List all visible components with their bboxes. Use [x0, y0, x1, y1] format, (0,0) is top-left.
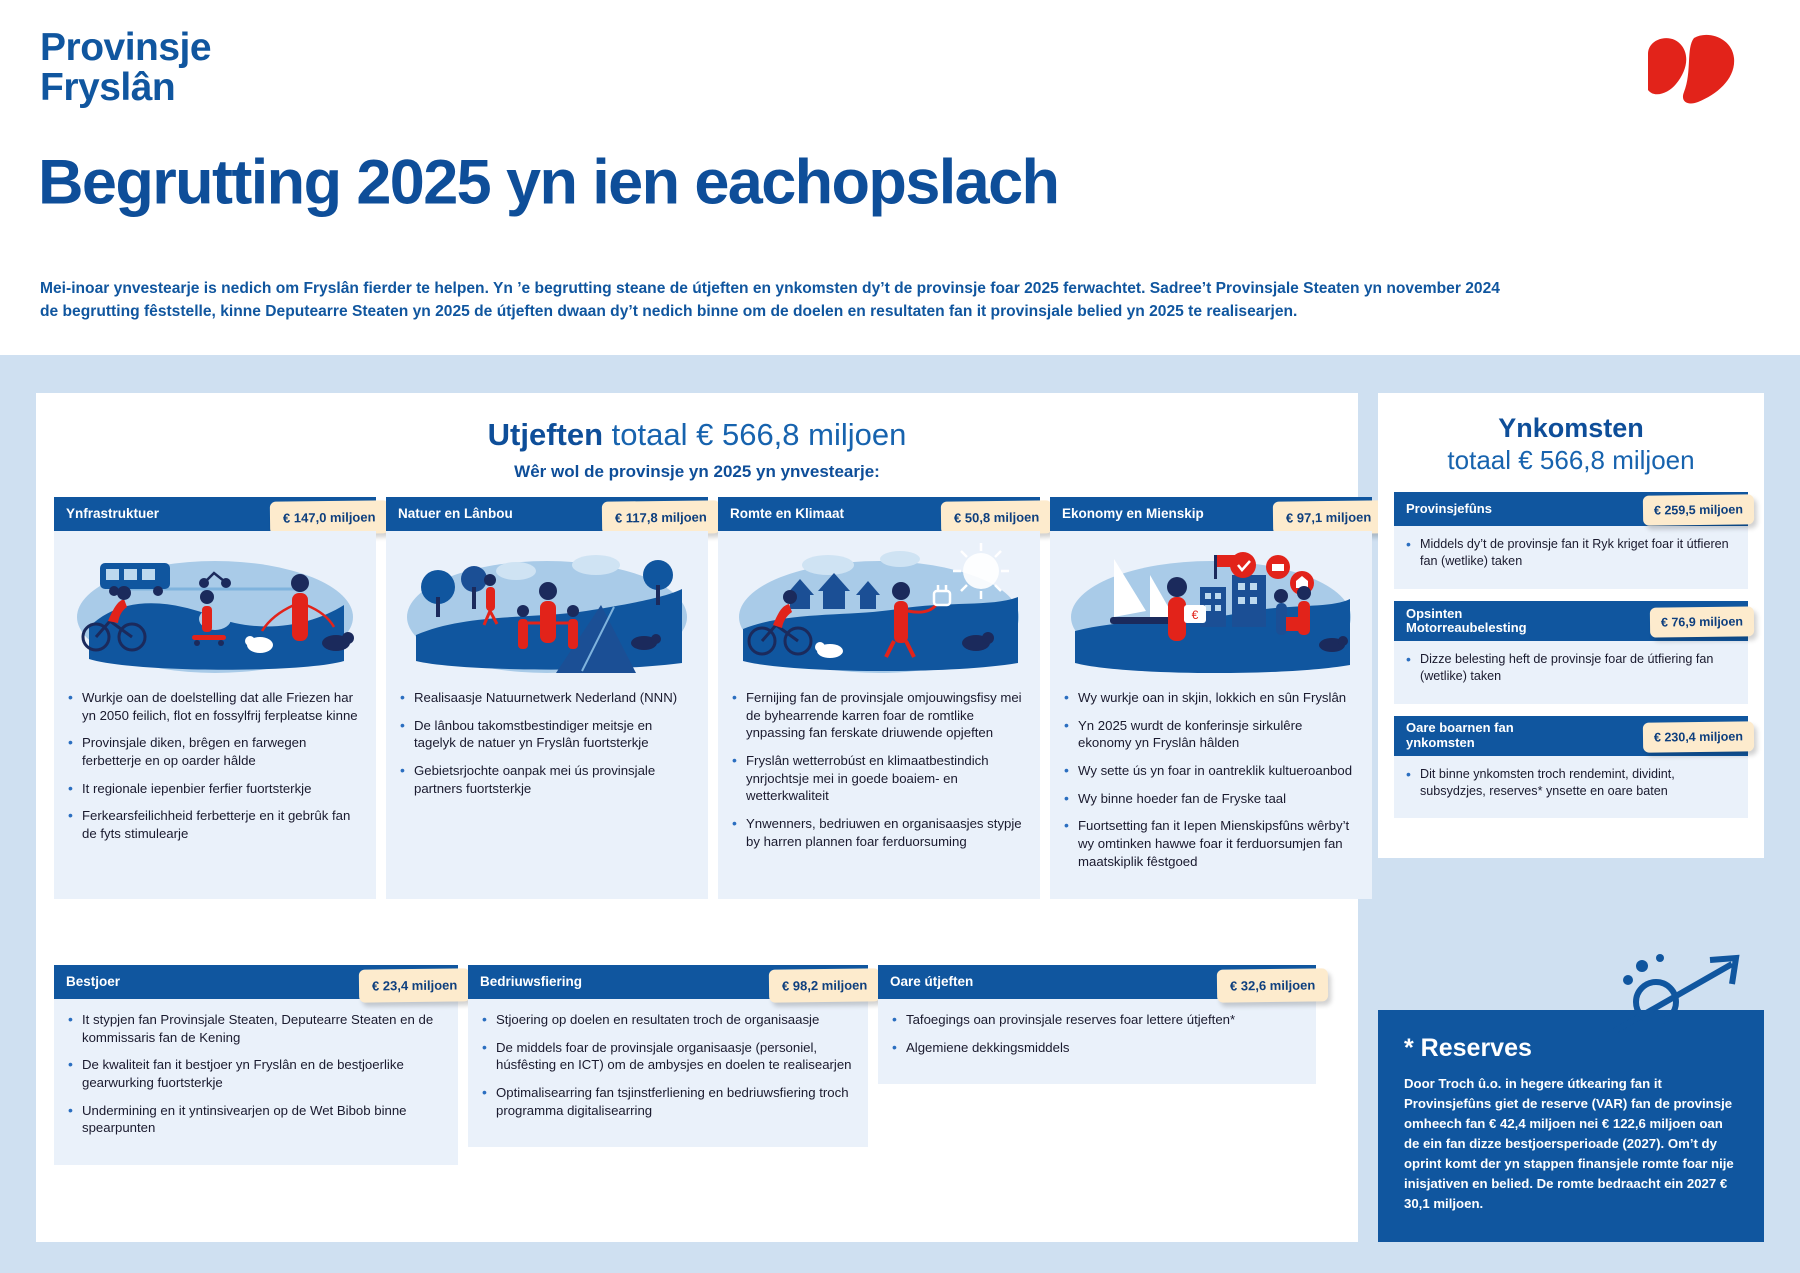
card-title: Oare útjeften [890, 975, 973, 990]
logo-line-1: Provinsje [40, 28, 211, 68]
card-bullets: Dizze belesting heft de provinsje foar d… [1394, 641, 1748, 704]
card-bullets: Tafoegings oan provinsjale reserves foar… [878, 999, 1316, 1084]
card-bullets: Realisaasje Natuurnetwerk Nederland (NNN… [386, 681, 708, 825]
list-item: Fryslân wetterrobúst en klimaatbestindic… [730, 752, 1026, 805]
list-item: Realisaasje Natuurnetwerk Nederland (NNN… [398, 689, 694, 707]
card-header: Ekonomy en Mienskip € 97,1 miljoen [1050, 497, 1372, 531]
income-panel: Ynkomsten totaal € 566,8 miljoen Provins… [1378, 393, 1764, 858]
amount-badge: € 23,4 miljoen [359, 968, 471, 1002]
expenses-subtitle: Wêr wol de provinsje yn 2025 yn ynvestea… [36, 462, 1358, 482]
expenses-title-bold: Utjeften [488, 417, 603, 452]
logo-line-2: Fryslân [40, 68, 211, 108]
expense-card-infrastructure[interactable]: Ynfrastruktuer € 147,0 miljoen [54, 497, 376, 899]
lead-paragraph: Mei-inoar ynvestearje is nedich om Frysl… [40, 278, 1520, 324]
card-title: Opsinten Motorreaubelesting [1406, 607, 1571, 636]
expense-card-operations[interactable]: Bedriuwsfiering € 98,2 miljoen Stjoering… [468, 965, 868, 1147]
amount-badge: € 98,2 miljoen [769, 968, 881, 1002]
reserves-body: Door Troch û.o. in hegere útkearing fan … [1404, 1074, 1740, 1214]
income-title: Ynkomsten [1378, 413, 1764, 443]
card-title: Romte en Klimaat [730, 507, 844, 522]
card-title: Provinsjefûns [1406, 502, 1492, 516]
list-item: Ynwenners, bedriuwen en organisaasjes st… [730, 815, 1026, 850]
list-item: It regionale iepenbier ferfier fuortster… [66, 780, 362, 798]
space-climate-illustration [718, 531, 1040, 681]
card-header: Romte en Klimaat € 50,8 miljoen [718, 497, 1040, 531]
card-header: Natuer en Lânbou € 117,8 miljoen [386, 497, 708, 531]
card-header: Ynfrastruktuer € 147,0 miljoen [54, 497, 376, 531]
list-item: De middels foar de provinsjale organisaa… [480, 1039, 852, 1074]
list-item: De kwaliteit fan it bestjoer yn Fryslân … [66, 1056, 442, 1091]
income-card-vehicle-tax[interactable]: Opsinten Motorreaubelesting € 76,9 miljo… [1394, 601, 1748, 704]
amount-badge: € 259,5 miljoen [1643, 495, 1754, 526]
expenses-title-total: totaal € 566,8 miljoen [612, 417, 907, 452]
card-title: Oare boarnen fan ynkomsten [1406, 721, 1571, 750]
nature-agriculture-illustration [386, 531, 708, 681]
expense-card-space-climate[interactable]: Romte en Klimaat € 50,8 miljoen [718, 497, 1040, 899]
card-title: Bedriuwsfiering [480, 975, 582, 990]
list-item: Undermining en it yntinsivearjen op de W… [66, 1102, 442, 1137]
card-bullets: It stypjen fan Provinsjale Steaten, Depu… [54, 999, 458, 1165]
amount-badge: € 76,9 miljoen [1650, 606, 1754, 637]
reserves-box: * Reserves Door Troch û.o. in hegere útk… [1378, 1010, 1764, 1242]
list-item: Provinsjale diken, brêgen en farwegen fe… [66, 734, 362, 769]
expenses-card-row-top: Ynfrastruktuer € 147,0 miljoen [54, 497, 1372, 899]
card-title: Ekonomy en Mienskip [1062, 507, 1204, 522]
list-item: Wy sette ús yn foar in oantreklik kultue… [1062, 762, 1358, 780]
list-item: Optimalisearring fan tsjinstferliening e… [480, 1084, 852, 1119]
expenses-panel: Utjeften totaal € 566,8 miljoen Wêr wol … [36, 393, 1358, 1242]
logo-wordmark: Provinsje Fryslân [40, 28, 211, 108]
list-item: Tafoegings oan provinsjale reserves foar… [890, 1011, 1300, 1029]
list-item: Fuortsetting fan it Iepen Mienskipsfûns … [1062, 817, 1358, 870]
card-bullets: Stjoering op doelen en resultaten troch … [468, 999, 868, 1147]
fryslan-heart-logo-icon [1642, 32, 1738, 110]
amount-badge: € 147,0 miljoen [269, 500, 388, 534]
expenses-title: Utjeften totaal € 566,8 miljoen [36, 417, 1358, 453]
list-item: Stjoering op doelen en resultaten troch … [480, 1011, 852, 1029]
card-bullets: Dit binne ynkomsten troch rendemint, div… [1394, 756, 1748, 819]
card-title: Bestjoer [66, 975, 120, 990]
infographic-page: Provinsje Fryslân Begrutting 2025 yn ien… [0, 0, 1800, 1273]
list-item: Yn 2025 wurdt de konferinsje sirkulêre e… [1062, 717, 1358, 752]
card-header: Bedriuwsfiering € 98,2 miljoen [468, 965, 868, 999]
list-item: Wy binne hoeder fan de Fryske taal [1062, 790, 1358, 808]
card-header: Opsinten Motorreaubelesting € 76,9 miljo… [1394, 601, 1748, 641]
card-bullets: Wy wurkje oan in skjin, lokkich en sûn F… [1050, 681, 1372, 899]
amount-badge: € 117,8 miljoen [602, 500, 720, 534]
amount-badge: € 97,1 miljoen [1273, 500, 1385, 534]
list-item: Wurkje oan de doelstelling dat alle Frie… [66, 689, 362, 724]
expense-card-nature-agriculture[interactable]: Natuer en Lânbou € 117,8 miljoen [386, 497, 708, 899]
list-item: Ferkearsfeilichheid ferbetterje en it ge… [66, 807, 362, 842]
economy-community-illustration: € [1050, 531, 1372, 681]
card-header: Oare útjeften € 32,6 miljoen [878, 965, 1316, 999]
list-item: Fernijing fan de provinsjale omjouwingsf… [730, 689, 1026, 742]
expense-card-other[interactable]: Oare útjeften € 32,6 miljoen Tafoegings … [878, 965, 1316, 1084]
list-item: Algemiene dekkingsmiddels [890, 1039, 1300, 1057]
card-header: Provinsjefûns € 259,5 miljoen [1394, 492, 1748, 526]
card-title: Natuer en Lânbou [398, 507, 513, 522]
card-header: Oare boarnen fan ynkomsten € 230,4 miljo… [1394, 716, 1748, 756]
list-item: Dit binne ynkomsten troch rendemint, div… [1404, 766, 1734, 800]
infrastructure-illustration [54, 531, 376, 681]
list-item: Middels dy’t de provinsje fan it Ryk kri… [1404, 536, 1734, 570]
growth-arrow-chart-icon [1582, 950, 1752, 1046]
card-bullets: Fernijing fan de provinsjale omjouwingsf… [718, 681, 1040, 879]
list-item: De lânbou takomstbestindiger meitsje en … [398, 717, 694, 752]
amount-badge: € 230,4 miljoen [1643, 721, 1754, 752]
list-item: It stypjen fan Provinsjale Steaten, Depu… [66, 1011, 442, 1046]
amount-badge: € 50,8 miljoen [941, 500, 1053, 534]
expense-card-economy-community[interactable]: Ekonomy en Mienskip € 97,1 miljoen [1050, 497, 1372, 899]
page-title: Begrutting 2025 yn ien eachopslach [38, 152, 1058, 215]
list-item: Gebietsrjochte oanpak mei ús provinsjale… [398, 762, 694, 797]
list-item: Dizze belesting heft de provinsje foar d… [1404, 651, 1734, 685]
income-card-provincial-fund[interactable]: Provinsjefûns € 259,5 miljoen Middels dy… [1394, 492, 1748, 589]
card-bullets: Wurkje oan de doelstelling dat alle Frie… [54, 681, 376, 871]
income-total: totaal € 566,8 miljoen [1378, 445, 1764, 476]
card-title: Ynfrastruktuer [66, 507, 159, 522]
header: Provinsje Fryslân Begrutting 2025 yn ien… [0, 0, 1800, 355]
card-header: Bestjoer € 23,4 miljoen [54, 965, 458, 999]
svg-text:€: € [1192, 608, 1199, 622]
income-card-other-sources[interactable]: Oare boarnen fan ynkomsten € 230,4 miljo… [1394, 716, 1748, 819]
expenses-card-row-bottom: Bestjoer € 23,4 miljoen It stypjen fan P… [54, 965, 1316, 1165]
amount-badge: € 32,6 miljoen [1217, 968, 1329, 1002]
expense-card-governance[interactable]: Bestjoer € 23,4 miljoen It stypjen fan P… [54, 965, 458, 1165]
card-bullets: Middels dy’t de provinsje fan it Ryk kri… [1394, 526, 1748, 589]
list-item: Wy wurkje oan in skjin, lokkich en sûn F… [1062, 689, 1358, 707]
income-cards: Provinsjefûns € 259,5 miljoen Middels dy… [1378, 476, 1764, 818]
